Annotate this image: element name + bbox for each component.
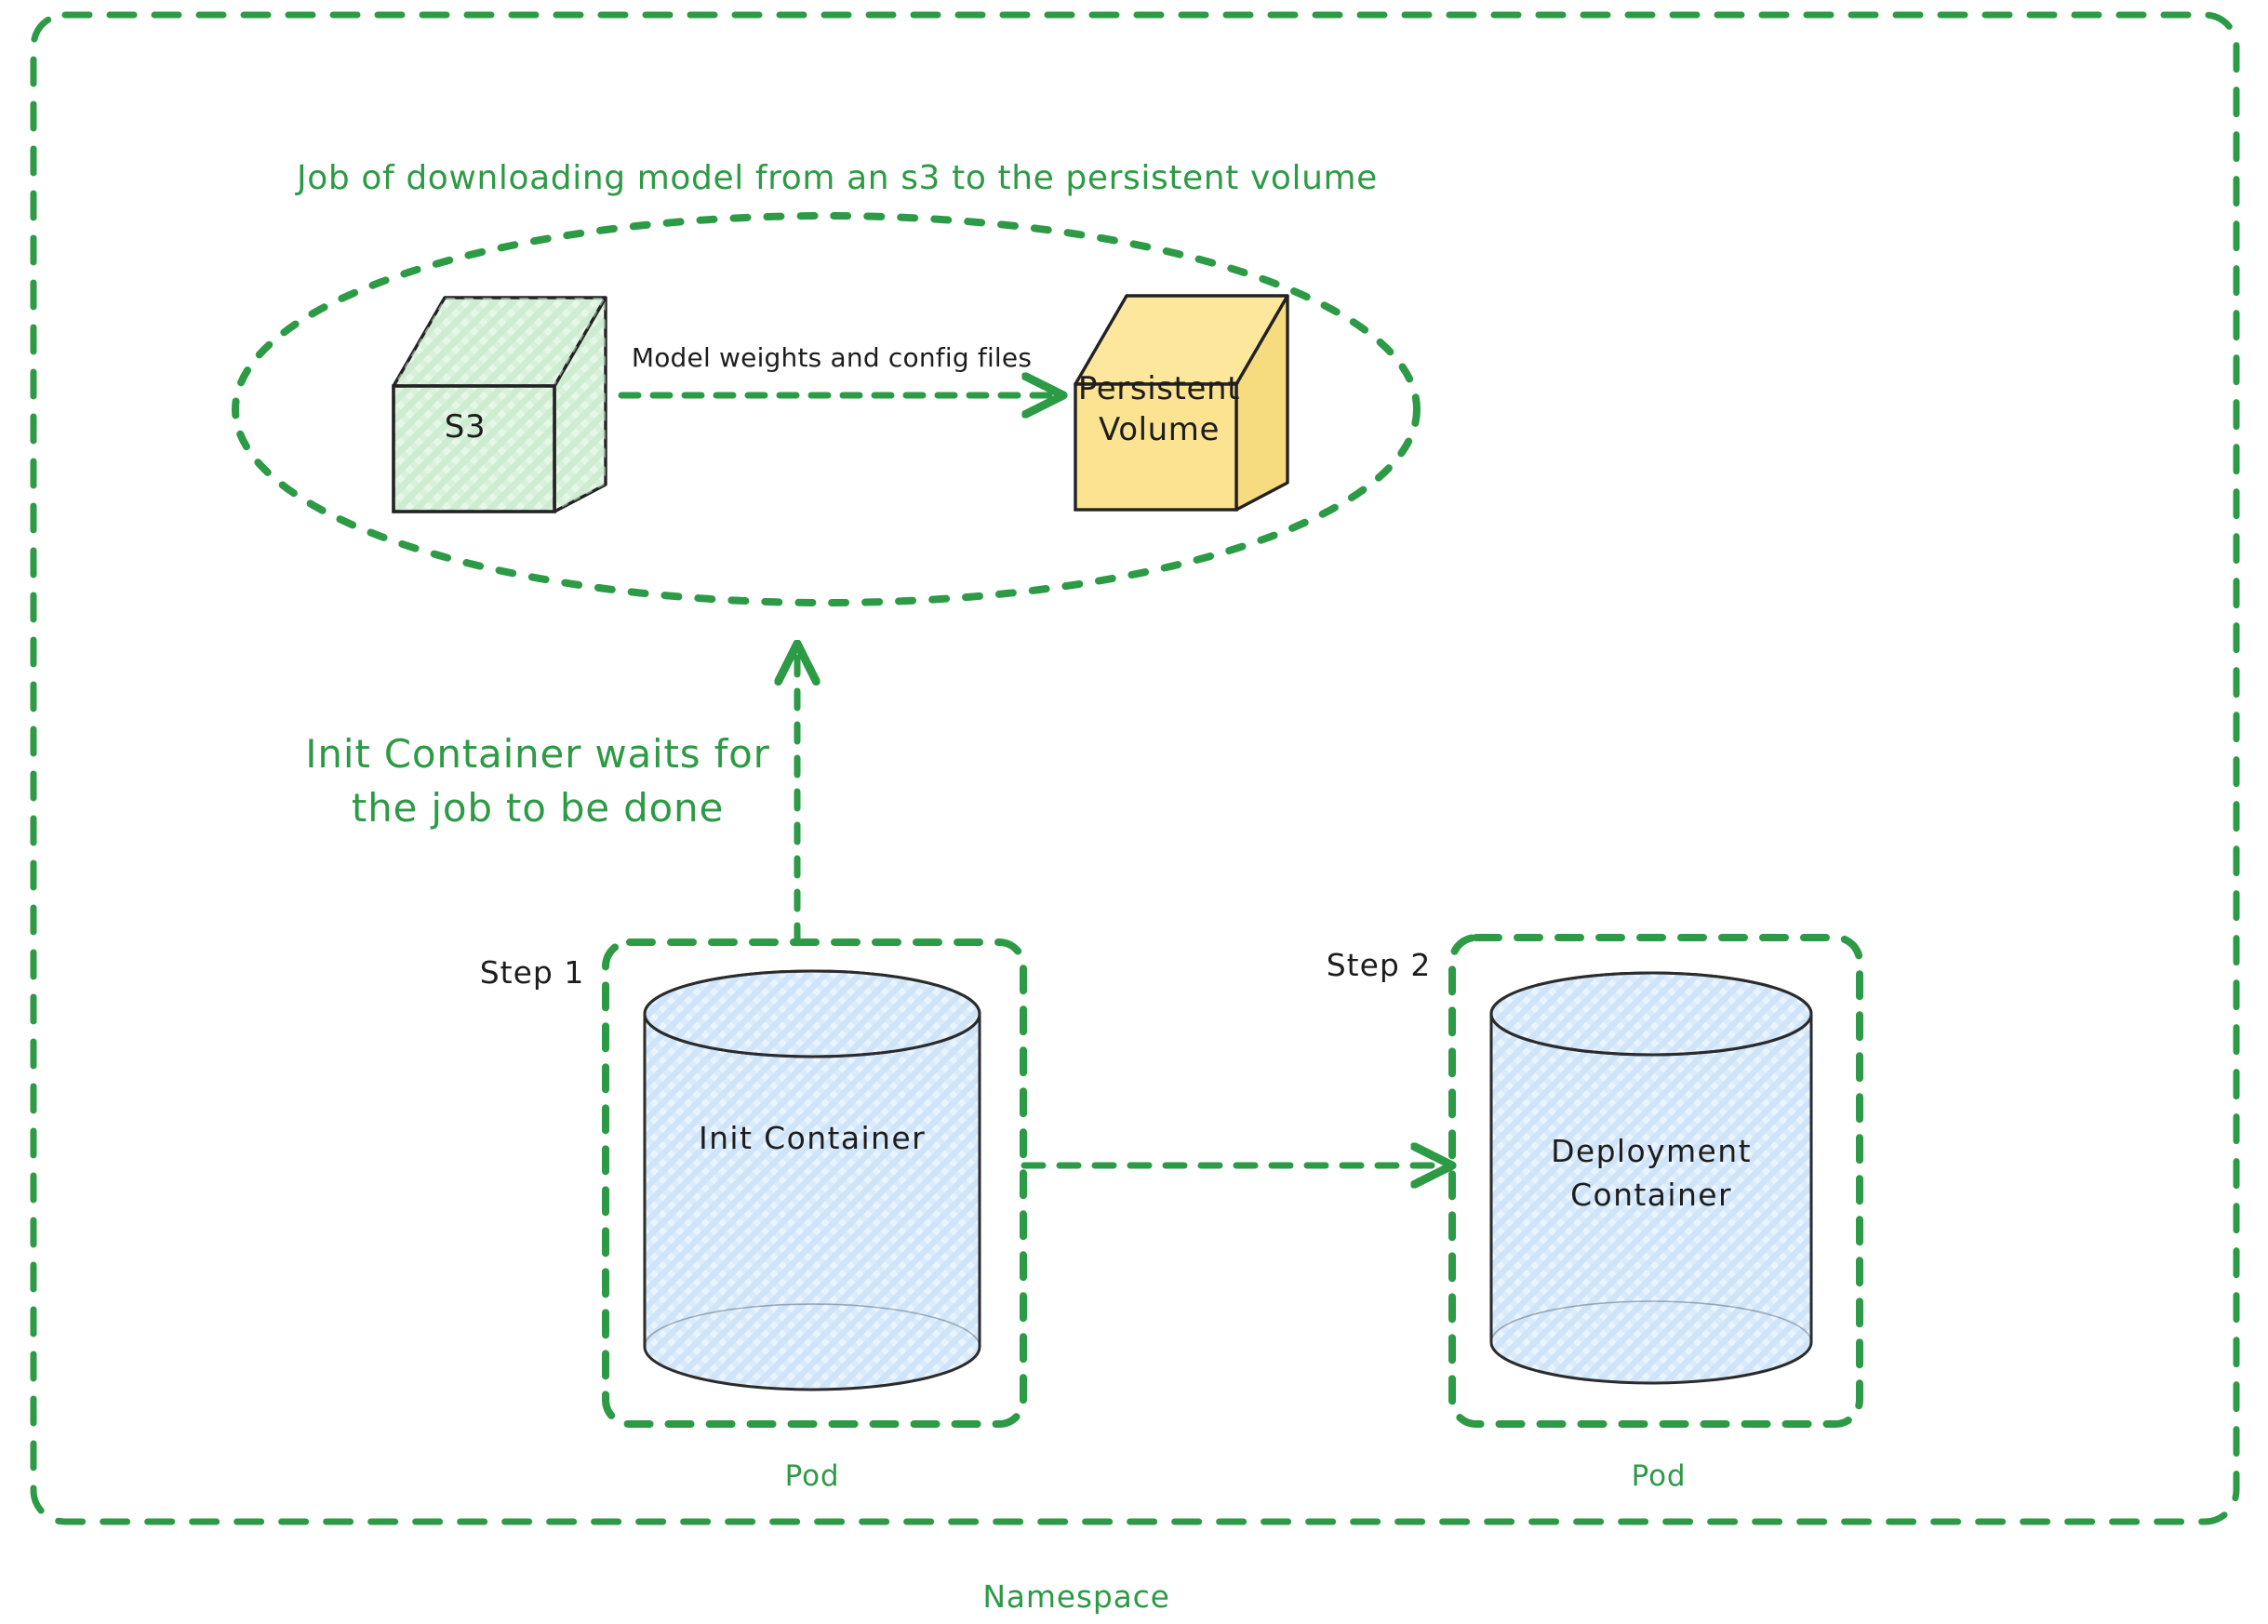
diagram-svg — [0, 0, 2268, 1624]
deployment-container-cylinder — [1491, 973, 1811, 1383]
diagram-canvas: Job of downloading model from an s3 to t… — [0, 0, 2268, 1624]
init-container-cylinder — [645, 971, 980, 1390]
s3-cube — [394, 298, 606, 512]
persistent-volume-cube — [1075, 296, 1287, 510]
